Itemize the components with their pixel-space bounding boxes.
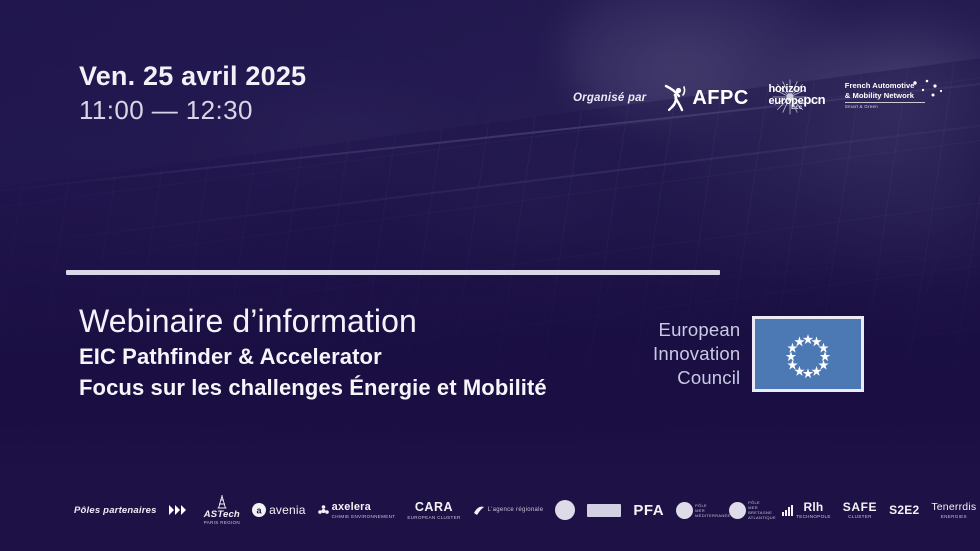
avenia-wordmark: avenia (269, 503, 306, 517)
bar-partner-logo (587, 497, 621, 523)
afpc-figure-icon (663, 83, 689, 113)
rlh-tagline: TECHNOPOLE (796, 514, 831, 520)
pole-mer-mediterranee-tagline: PÔLE MER MÉDITERRANÉE (695, 503, 717, 518)
stars-icon (905, 79, 945, 111)
axelera-logo: axelera CHIMIE ENVIRONNEMENT (318, 497, 396, 523)
axelera-mark-icon (318, 505, 329, 516)
lagence-wordmark: L’agence régionale (488, 507, 544, 513)
safe-wordmark: SAFE (843, 500, 877, 514)
eic-wordmark: European Innovation Council (653, 318, 740, 390)
s2e2-wordmark: S2E2 (889, 503, 919, 517)
french-automotive-mobility-network-logo: French Automotive & Mobility Network Sma… (845, 81, 941, 115)
tenerrdis-tagline: ENERGIES (941, 514, 967, 520)
tenerrdis-logo: Tenerrdis ENERGIES (931, 497, 976, 523)
eic-line-1: European (653, 318, 740, 342)
avenia-logo: a avenia (252, 497, 306, 523)
tenerrdis-wordmark: Tenerrdis (931, 501, 976, 514)
pcn-word: pcn (803, 92, 825, 107)
circle-partner-logo (555, 497, 575, 523)
organised-by-label: Organisé par (573, 92, 646, 104)
pole-mer-bretagne-logo: PÔLE MER BRETAGNE ATLANTIQUE (729, 497, 770, 523)
eu-stars-icon (755, 319, 861, 391)
pfa-wordmark: PFA (633, 502, 664, 519)
safe-logo: SAFE CLUSTER (843, 497, 877, 523)
page-title: Webinaire d’information (79, 303, 547, 341)
s2e2-logo: S2E2 (889, 497, 919, 523)
astech-tagline: PARIS REGION (204, 520, 240, 526)
event-datetime: Ven. 25 avril 2025 11:00 — 12:30 (79, 59, 306, 127)
partner-logo-strip: Pôles partenaires ASTech PARIS REGION a (74, 497, 980, 523)
title-divider-rule (66, 270, 720, 275)
eu-flag (752, 316, 864, 392)
organiser-logo-strip: Organisé par AFPC (573, 78, 941, 118)
webinar-announcement-slide: Ven. 25 avril 2025 11:00 — 12:30 Organis… (0, 0, 980, 551)
rlh-mark-icon (782, 505, 794, 516)
safe-tagline: CLUSTER (848, 514, 872, 520)
cara-tagline: EUROPEAN CLUSTER (407, 515, 460, 521)
eic-line-3: Council (653, 366, 740, 390)
bar-mark-icon (587, 504, 621, 517)
circle-mark-icon (676, 502, 693, 519)
rlh-wordmark: Rlh (803, 500, 823, 514)
rlh-logo: Rlh TECHNOPOLE (782, 497, 831, 523)
astech-wordmark: ASTech (204, 509, 240, 520)
pfa-logo: PFA (633, 497, 664, 523)
title-block: Webinaire d’information EIC Pathfinder &… (79, 303, 547, 403)
agence-mark-icon (473, 505, 485, 516)
astech-logo: ASTech PARIS REGION (204, 497, 240, 523)
chevron-right-icon (169, 505, 186, 515)
cara-logo: CARA EUROPEAN CLUSTER (407, 497, 460, 523)
eic-line-2: Innovation (653, 342, 740, 366)
afpc-wordmark: AFPC (692, 87, 748, 110)
subtitle-line-1: EIC Pathfinder & Accelerator (79, 341, 547, 372)
european-innovation-council-logo: European Innovation Council (653, 316, 864, 392)
event-time: 11:00 — 12:30 (79, 94, 306, 127)
horizon-europe-pcn-logo: horizon europepcn Ecc (766, 81, 828, 115)
axelera-wordmark: axelera (332, 501, 371, 514)
circle-mark-icon (555, 500, 575, 520)
axelera-tagline: CHIMIE ENVIRONNEMENT (332, 514, 396, 520)
event-date: Ven. 25 avril 2025 (79, 59, 306, 94)
circle-mark-icon (729, 502, 746, 519)
afpc-logo: AFPC (663, 83, 748, 113)
partners-label: Pôles partenaires (74, 505, 157, 516)
pole-mer-bretagne-tagline: PÔLE MER BRETAGNE ATLANTIQUE (748, 500, 770, 520)
avenia-mark-icon: a (252, 503, 266, 517)
pole-mer-mediterranee-logo: PÔLE MER MÉDITERRANÉE (676, 497, 717, 523)
lagence-regionale-logo: L’agence régionale (473, 497, 544, 523)
subtitle-line-2: Focus sur les challenges Énergie et Mobi… (79, 372, 547, 403)
cara-wordmark: CARA (415, 500, 453, 515)
eiffel-tower-icon (217, 495, 227, 509)
